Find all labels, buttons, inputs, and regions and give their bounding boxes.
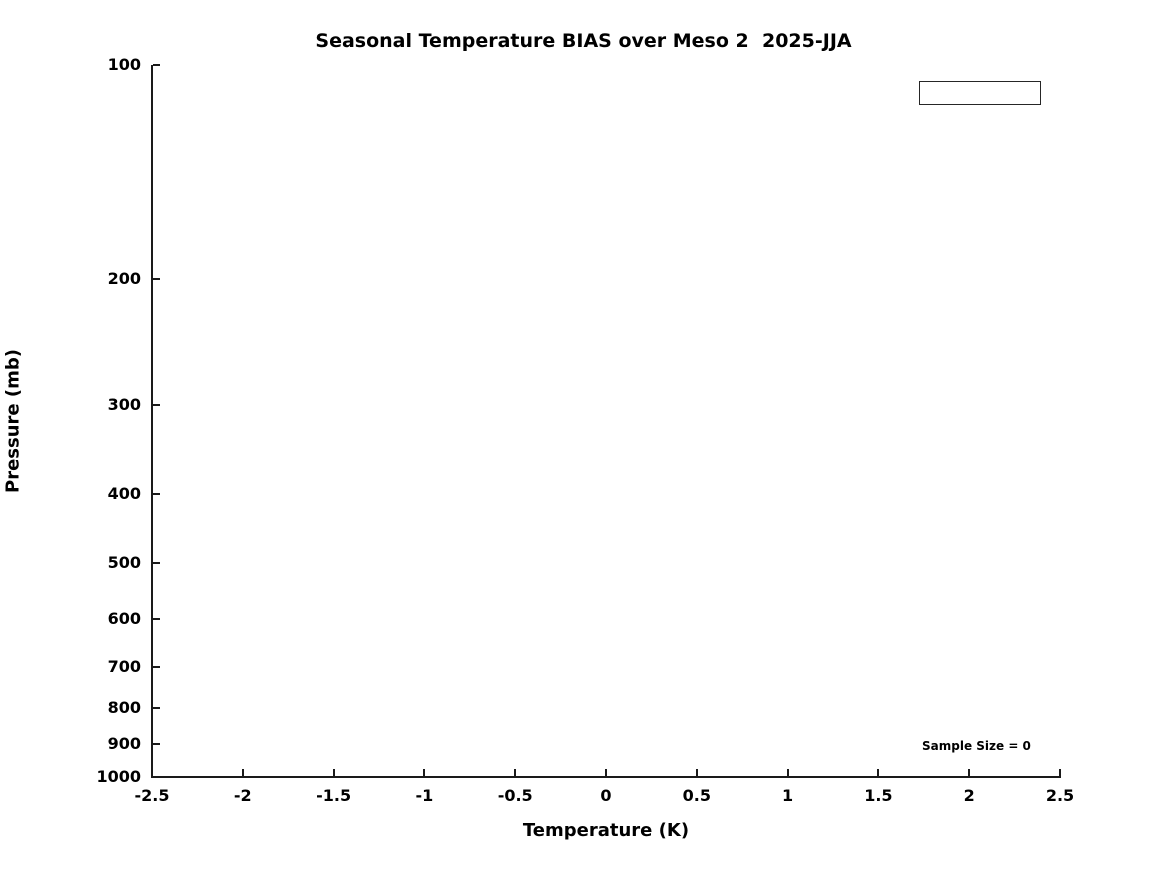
x-tick-label: -2.5 (135, 788, 170, 804)
legend-entries (920, 82, 1040, 104)
sample-size-annotation: Sample Size = 0 (922, 739, 1031, 753)
x-tick-label: -1.5 (316, 788, 351, 804)
y-tick-label: 800 (108, 700, 141, 716)
y-tick-mark (153, 776, 160, 778)
y-tick-label: 700 (108, 659, 141, 675)
x-tick-mark (151, 769, 153, 776)
y-tick-mark (153, 618, 160, 620)
x-tick-label: 1 (782, 788, 793, 804)
x-tick-mark (514, 769, 516, 776)
y-tick-mark (153, 707, 160, 709)
page-title: Seasonal Temperature BIAS over Meso 2 20… (0, 30, 1167, 52)
chart-figure: Seasonal Temperature BIAS over Meso 2 20… (0, 0, 1167, 875)
plot-area (152, 65, 1060, 777)
x-axis-label: Temperature (K) (0, 820, 1167, 841)
y-tick-label: 300 (108, 397, 141, 413)
x-tick-mark (968, 769, 970, 776)
y-axis-label: Pressure (mb) (3, 349, 24, 493)
y-tick-label: 400 (108, 486, 141, 502)
y-tick-label: 900 (108, 736, 141, 752)
y-tick-label: 500 (108, 555, 141, 571)
y-tick-label: 200 (108, 271, 141, 287)
x-tick-mark (877, 769, 879, 776)
x-tick-label: -2 (234, 788, 252, 804)
x-tick-label: -0.5 (498, 788, 533, 804)
x-axis-spine (151, 776, 1061, 778)
y-tick-mark (153, 64, 160, 66)
legend[interactable] (919, 81, 1041, 105)
x-tick-mark (242, 769, 244, 776)
x-tick-label: 1.5 (864, 788, 892, 804)
y-tick-mark (153, 493, 160, 495)
x-tick-mark (605, 769, 607, 776)
y-tick-label: 1000 (96, 769, 141, 785)
y-axis-spine (151, 65, 153, 778)
x-tick-mark (333, 769, 335, 776)
x-tick-label: 2 (964, 788, 975, 804)
x-tick-mark (423, 769, 425, 776)
y-tick-mark (153, 743, 160, 745)
y-tick-label: 600 (108, 611, 141, 627)
y-tick-mark (153, 562, 160, 564)
x-tick-label: 2.5 (1046, 788, 1074, 804)
x-tick-label: -1 (416, 788, 434, 804)
x-tick-label: 0 (600, 788, 611, 804)
x-tick-mark (696, 769, 698, 776)
y-tick-mark (153, 278, 160, 280)
x-tick-mark (787, 769, 789, 776)
y-tick-label: 100 (108, 57, 141, 73)
y-tick-mark (153, 404, 160, 406)
y-tick-mark (153, 666, 160, 668)
x-tick-mark (1059, 769, 1061, 776)
x-tick-label: 0.5 (683, 788, 711, 804)
